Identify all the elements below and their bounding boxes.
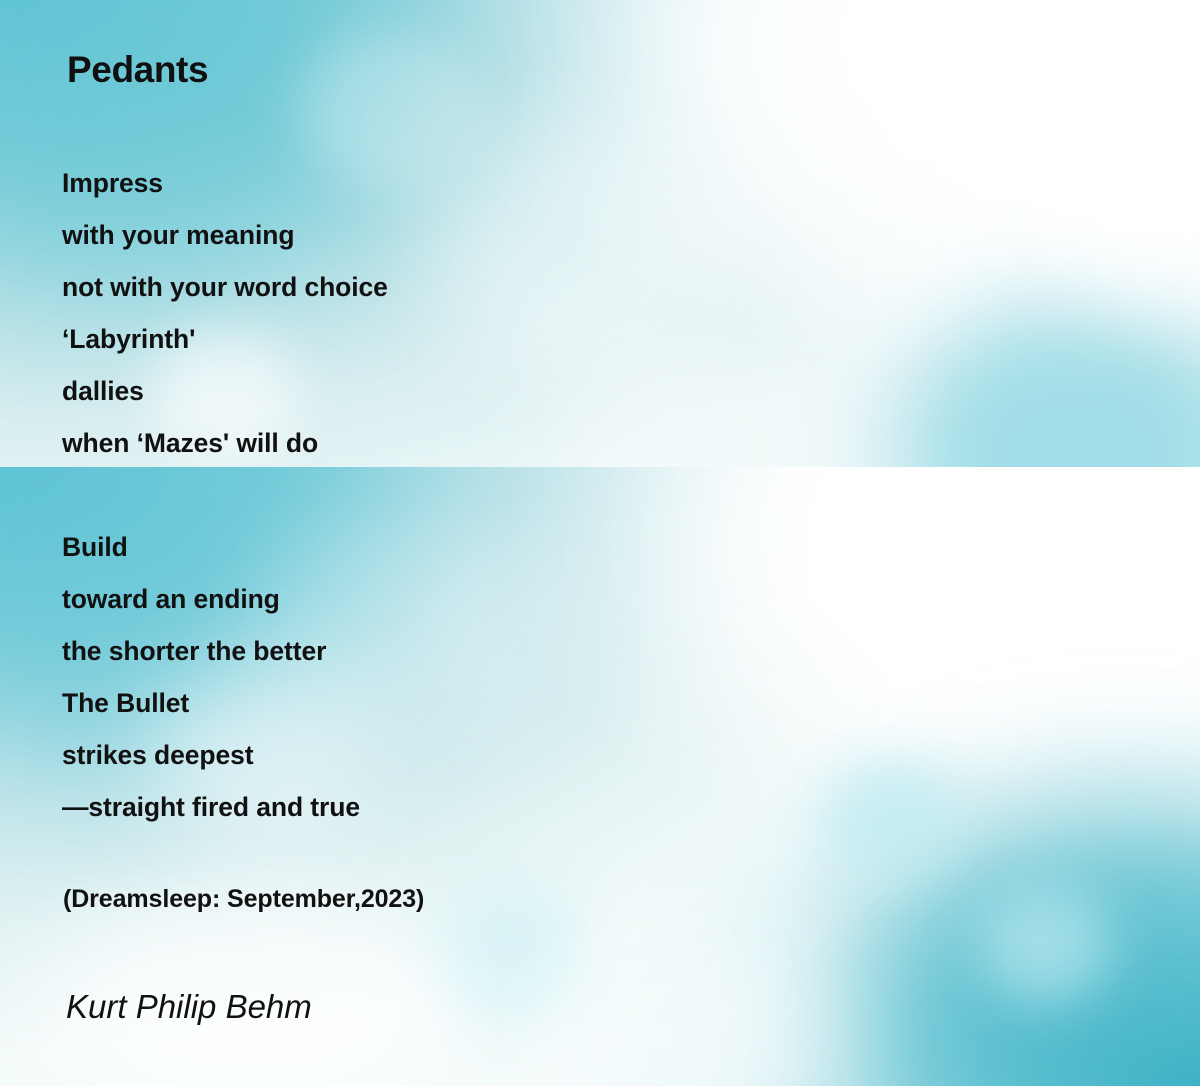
poem-source-attribution: (Dreamsleep: September,2023)	[63, 885, 424, 914]
poem-line: not with your word choice	[62, 261, 388, 313]
poem-line: with your meaning	[62, 209, 388, 261]
poem-line: ‘Labyrinth'	[62, 313, 388, 365]
poem-stanza-2: Build toward an ending the shorter the b…	[62, 521, 360, 833]
poem-line: toward an ending	[62, 573, 360, 625]
poem-line: strikes deepest	[62, 729, 360, 781]
poem-line: The Bullet	[62, 677, 360, 729]
poem-line: Impress	[62, 157, 388, 209]
poem-text-layer: Pedants Impress with your meaning not wi…	[0, 0, 1200, 1086]
poem-line: when ‘Mazes' will do	[62, 417, 388, 469]
poem-line: the shorter the better	[62, 625, 360, 677]
page-title: Pedants	[67, 50, 208, 91]
poem-card: Pedants Impress with your meaning not wi…	[0, 0, 1200, 1086]
poem-stanza-1: Impress with your meaning not with your …	[62, 157, 388, 469]
poem-line: —straight fired and true	[62, 781, 360, 833]
poem-author-signature: Kurt Philip Behm	[66, 988, 312, 1026]
poem-line: dallies	[62, 365, 388, 417]
poem-line: Build	[62, 521, 360, 573]
